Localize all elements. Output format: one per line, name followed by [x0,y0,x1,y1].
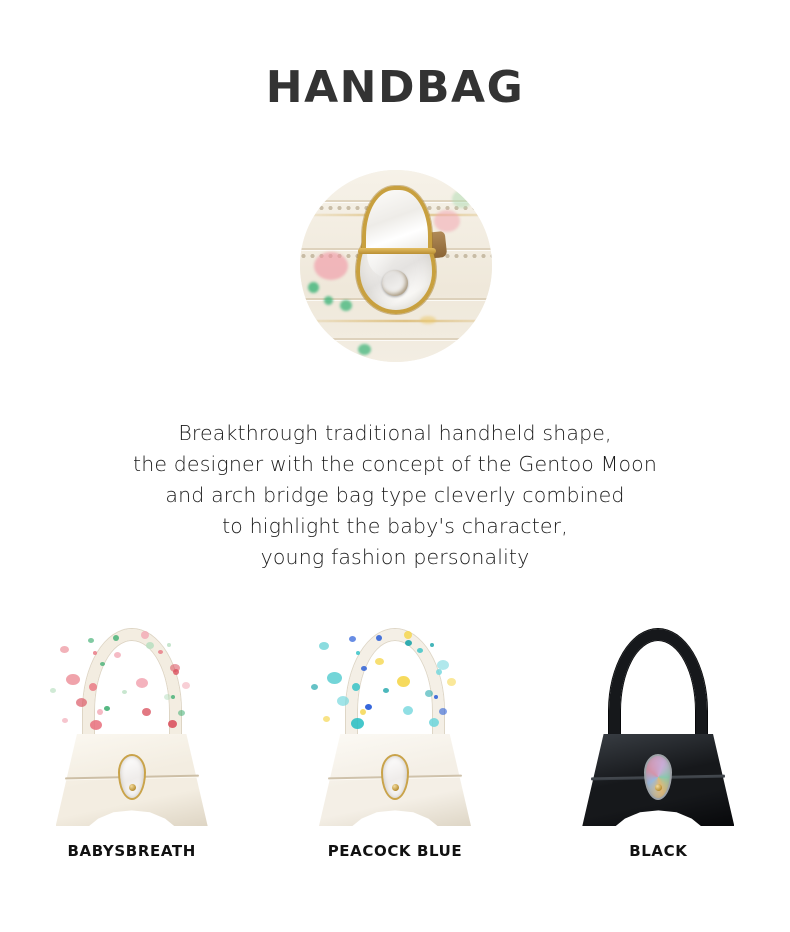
paint-splatter [352,683,360,691]
product-variant-row: BABYSBREATH PEACOCK BLUE [0,626,790,860]
paint-splatter [114,652,121,658]
page-title: HANDBAG [0,62,790,113]
paint-splatter [158,650,163,654]
hero-image-content [300,170,492,362]
bag-clasp-stud [392,784,399,791]
paint-splatter [439,708,447,715]
paint-splatter [447,678,456,686]
paint-splatter [164,694,171,700]
clasp-gold-stud [382,270,408,296]
handbag-babysbreath[interactable] [42,626,222,826]
paint-splatter [93,651,97,655]
paint-splatter [171,695,175,699]
paint-blot-green [358,344,371,355]
paint-splatter [66,674,80,685]
paint-blot-green [340,300,352,311]
paint-splatter [349,636,356,642]
paint-splatter [167,643,171,647]
paint-splatter [361,666,367,671]
paint-splatter [60,646,69,653]
product-variant-babysbreath[interactable]: BABYSBREATH [0,626,263,860]
paint-splatter [146,642,154,649]
paint-splatter [50,688,56,693]
paint-splatter [62,718,68,723]
paint-splatter [403,706,413,715]
paint-splatter [141,631,149,639]
paint-splatter [360,709,366,715]
paint-splatter [90,720,102,730]
paint-blot-green [452,190,472,208]
product-description: Breakthrough traditional handheld shape,… [0,418,790,573]
paint-splatter [405,640,412,646]
croc-seam-line [300,338,492,340]
paint-splatter [383,688,389,693]
paint-splatter [436,669,442,675]
paint-splatter [178,710,185,716]
paint-splatter [88,638,94,643]
paint-splatter [417,648,423,653]
paint-splatter [397,676,410,687]
product-variant-black[interactable]: BLACK [527,626,790,860]
variant-label: BLACK [629,842,687,860]
paint-splatter [376,635,382,641]
hero-detail-image [300,170,492,362]
paint-splatter [323,716,330,722]
paint-splatter [182,682,190,689]
paint-splatter [351,718,364,729]
paint-splatter [168,720,177,728]
paint-splatter [122,690,127,694]
paint-blot-pink [314,252,348,280]
teardrop-clasp [352,186,440,318]
paint-blot-green [308,282,319,293]
product-variant-peacock-blue[interactable]: PEACOCK BLUE [263,626,526,860]
gold-seam-line [300,320,492,322]
paint-splatter [97,709,103,715]
bag-clasp-stud [129,784,136,791]
description-line: the designer with the concept of the Gen… [0,449,790,480]
description-line: to highlight the baby's character, [0,511,790,542]
paint-splatter [375,658,384,665]
description-line: Breakthrough traditional handheld shape, [0,418,790,449]
paint-splatter [136,678,148,688]
paint-splatter [365,704,372,710]
paint-splatter [173,669,179,675]
paint-splatter [311,684,318,690]
paint-splatter [430,643,434,647]
paint-splatter [429,718,439,727]
paint-splatter [356,651,360,655]
clasp-gold-arch [362,186,432,252]
paint-splatter [404,631,412,639]
paint-splatter [89,683,97,691]
paint-splatter [434,695,438,699]
paint-splatter [327,672,342,684]
handbag-black[interactable] [568,626,748,826]
paint-splatter [104,706,110,711]
paint-splatter [337,696,349,706]
handbag-peacock-blue[interactable] [305,626,485,826]
paint-blot-green [324,296,333,305]
paint-splatter [425,690,433,697]
paint-splatter [142,708,151,716]
paint-splatter [100,662,105,666]
paint-splatter [319,642,329,650]
paint-splatter [113,635,119,641]
clasp-gold-bar [358,248,436,254]
variant-label: PEACOCK BLUE [328,842,463,860]
product-page: HANDBAG [0,0,790,932]
variant-label: BABYSBREATH [67,842,195,860]
paint-splatter [76,698,87,707]
description-line: young fashion personality [0,542,790,573]
description-line: and arch bridge bag type cleverly combin… [0,480,790,511]
